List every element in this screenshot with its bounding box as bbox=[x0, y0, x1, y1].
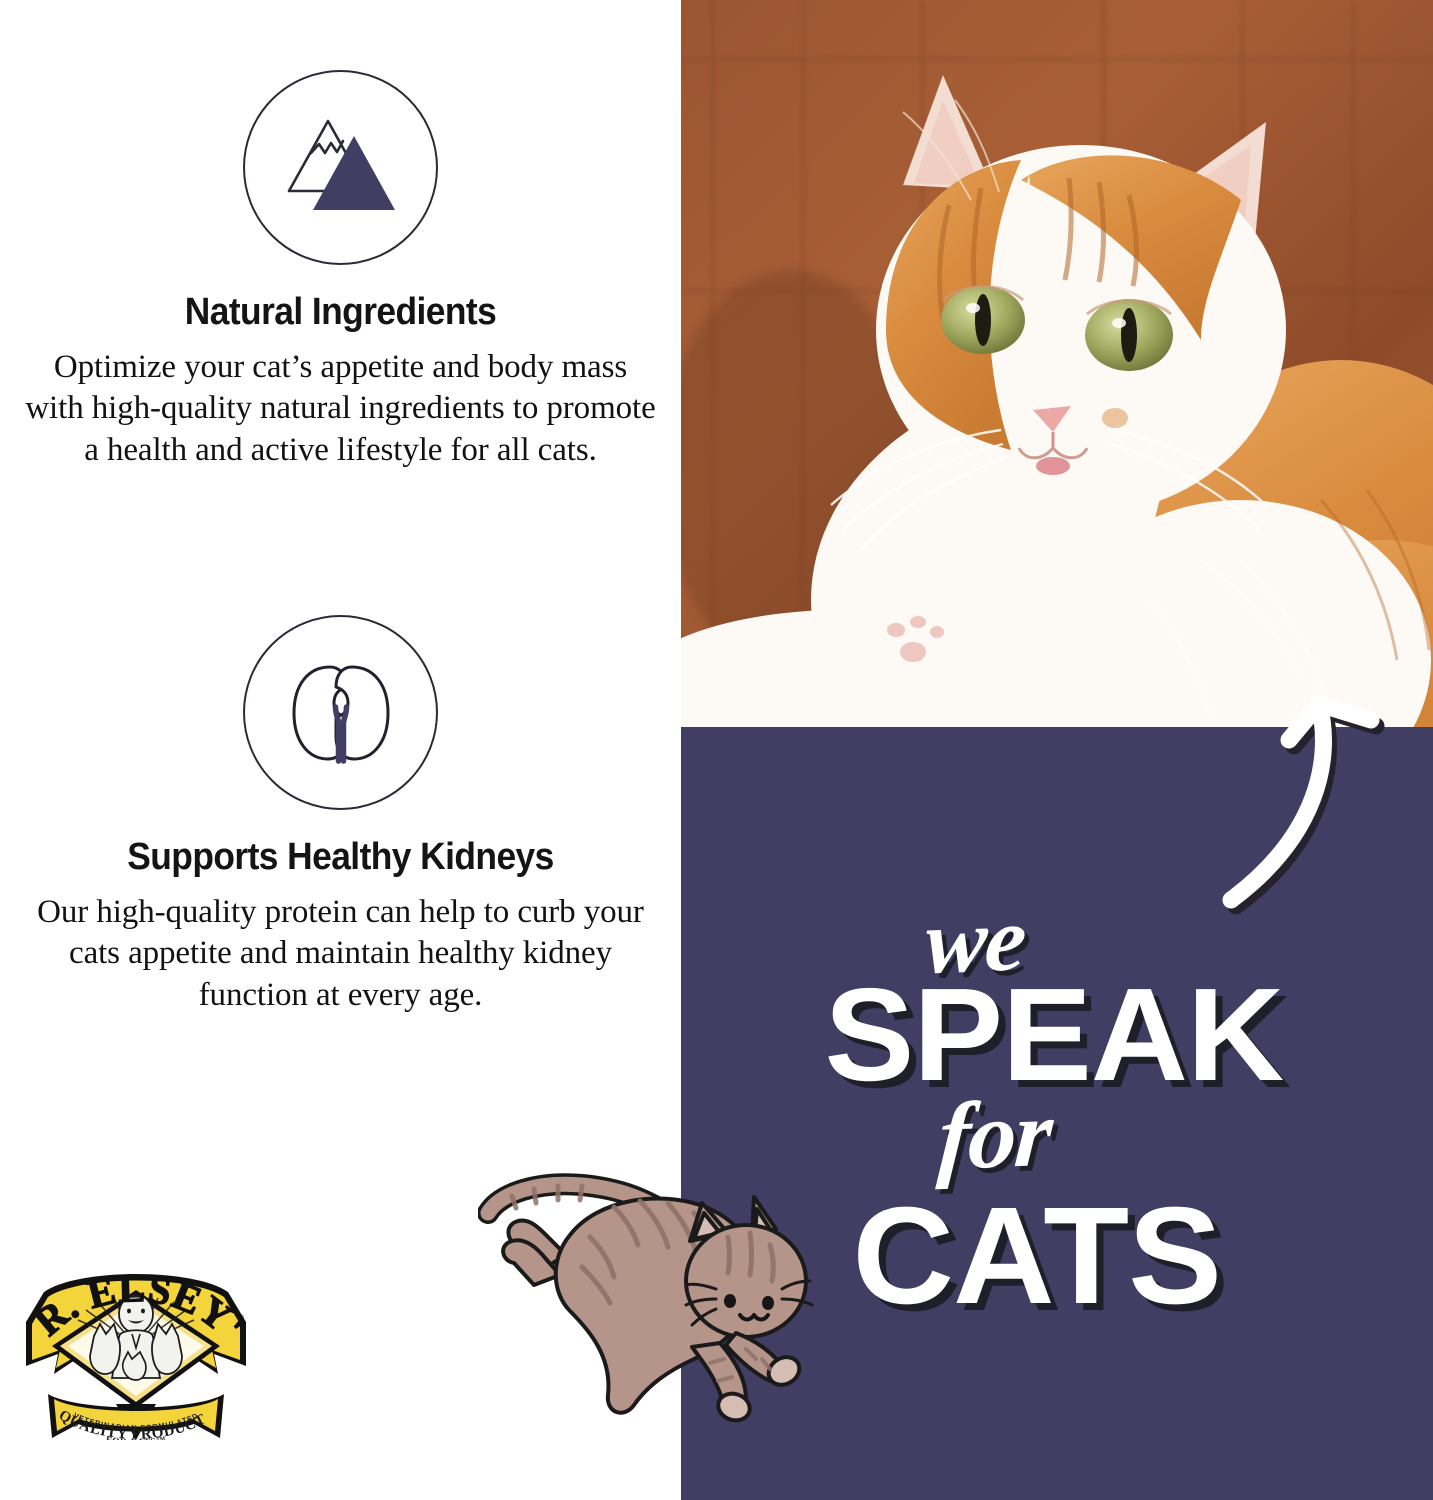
feature-title: Supports Healthy Kidneys bbox=[24, 838, 657, 878]
dr-elseys-logo: VETERINARIAN FORMULATED QUALITY PRODUCTS… bbox=[18, 1262, 254, 1440]
tagline-panel: we SPEAK for CATS bbox=[681, 727, 1433, 1500]
marketing-infographic: Natural Ingredients Optimize your cat’s … bbox=[0, 0, 1433, 1500]
we-speak-for-cats-lockup: we SPEAK for CATS bbox=[681, 727, 1433, 1500]
feature-body: Our high-quality protein can help to cur… bbox=[0, 892, 681, 1017]
feature-supports-healthy-kidneys: Supports Healthy Kidneys Our high-qualit… bbox=[0, 615, 681, 1017]
cat-photo bbox=[681, 0, 1433, 727]
logo-registered-mark: ® bbox=[239, 1314, 245, 1322]
tagline-line-speak: SPEAK bbox=[825, 959, 1284, 1110]
feature-body: Optimize your cat’s appetite and body ma… bbox=[0, 347, 681, 472]
mountains-icon bbox=[243, 70, 438, 265]
feature-natural-ingredients: Natural Ingredients Optimize your cat’s … bbox=[0, 70, 681, 472]
hero-column: we SPEAK for CATS bbox=[681, 0, 1433, 1500]
tagline-line-cats: CATS bbox=[852, 1177, 1221, 1336]
tagline-line-for: for bbox=[935, 1077, 1054, 1192]
kidneys-icon bbox=[243, 615, 438, 810]
features-column: Natural Ingredients Optimize your cat’s … bbox=[0, 0, 681, 1500]
feature-title: Natural Ingredients bbox=[24, 293, 657, 333]
